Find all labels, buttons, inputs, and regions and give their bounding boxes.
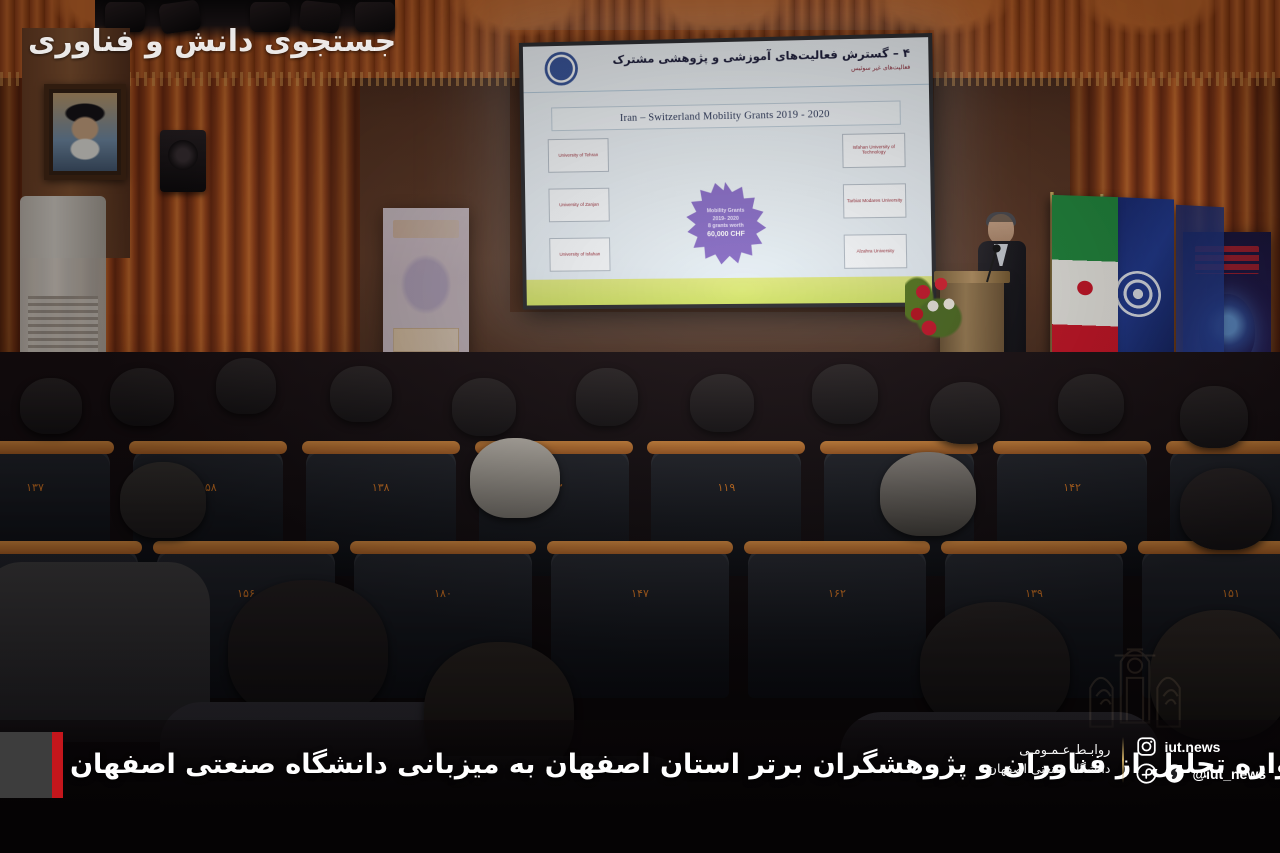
diagram-node-label: University of Isfahan xyxy=(559,252,600,257)
instagram-icon xyxy=(1136,736,1157,757)
slide-title: ۴ – گسترش فعالیت‌های آموزشی و پژوهشی مشت… xyxy=(612,46,910,67)
audience-head xyxy=(20,378,82,434)
slide-header: ۴ – گسترش فعالیت‌های آموزشی و پژوهشی مشت… xyxy=(523,37,929,93)
seat-number: ۱۴۷ xyxy=(551,587,729,600)
audience-head xyxy=(120,462,206,538)
seat-number: ۱۳۷ xyxy=(0,481,110,494)
instagram-handle: iut.news xyxy=(1164,739,1220,755)
seat-number: ۱۳۹ xyxy=(945,587,1123,600)
top-watermark: جستجوی دانش و فناوری xyxy=(28,24,396,59)
audience-head xyxy=(470,438,560,518)
university-logo-icon xyxy=(544,51,578,85)
diagram-node-label: Tarbiat Modares University xyxy=(847,198,902,204)
starburst-line-1: Mobility Grants xyxy=(707,208,745,215)
audience-head xyxy=(930,382,1000,444)
diagram-node: University of Tehran xyxy=(548,138,609,173)
pr-line-2: دانشگاه صنعتی اصفهان xyxy=(988,760,1111,778)
caption-headline: جشنواره تجلیل از فناوران و پژوهشگران برت… xyxy=(70,734,970,794)
soroush-icon xyxy=(1164,763,1185,784)
monument-watermark-icon xyxy=(1074,625,1196,735)
audience-head xyxy=(228,580,388,720)
starburst-line-3: 8 grants worth xyxy=(708,223,744,230)
pa-speaker-icon xyxy=(160,130,206,192)
caption-block xyxy=(0,732,52,798)
diagram-node: University of Isfahan xyxy=(549,237,610,271)
messenger-handle: @iut_news xyxy=(1192,766,1266,782)
credits-divider xyxy=(1122,737,1124,783)
audience-head xyxy=(110,368,174,426)
social-instagram[interactable]: iut.news xyxy=(1136,736,1266,757)
slide-banner: Iran – Switzerland Mobility Grants 2019 … xyxy=(551,100,901,131)
presentation-slide: ۴ – گسترش فعالیت‌های آموزشی و پژوهشی مشت… xyxy=(523,37,932,305)
starburst-line-2: 2019- 2020 xyxy=(713,216,739,223)
diagram-node: Tarbiat Modares University xyxy=(843,183,907,218)
audience-head xyxy=(330,366,392,422)
audience-head xyxy=(812,364,878,424)
seat-number: ۱۳۸ xyxy=(306,481,456,494)
credits-group: روابـط عـمـومـی دانشگاه صنعتی اصفهان iut… xyxy=(988,736,1266,784)
seat-number: ۱۸۰ xyxy=(354,587,532,600)
slide-subtitle: فعالیت‌های غیر سوئیس xyxy=(851,64,910,72)
slide-diagram: University of Tehran University of Zanja… xyxy=(542,131,914,276)
audience-head xyxy=(216,358,276,414)
diagram-node-label: Alzahra University xyxy=(857,249,895,254)
social-links: iut.news @iut_ne xyxy=(1136,736,1266,784)
university-emblem-icon xyxy=(1115,270,1161,318)
audience-head xyxy=(576,368,638,426)
slide-footer-band xyxy=(526,276,932,305)
seat-number: ۱۵۱ xyxy=(1142,587,1280,600)
caption-accent-bar xyxy=(52,732,63,798)
seat-number: ۱۱۹ xyxy=(651,481,801,494)
diagram-node: University of Zanjan xyxy=(548,188,609,223)
seat-number: ۱۶۲ xyxy=(748,587,926,600)
audience-head xyxy=(1180,386,1248,448)
audience-head xyxy=(1180,468,1272,550)
audience-head xyxy=(452,378,516,436)
diagram-node: Alzahra University xyxy=(844,234,908,269)
diagram-node-label: University of Tehran xyxy=(558,153,598,158)
mobility-grants-starburst: Mobility Grants 2019- 2020 8 grants wort… xyxy=(683,181,768,266)
projection-screen: ۴ – گسترش فعالیت‌های آموزشی و پژوهشی مشت… xyxy=(519,33,937,310)
diagram-node: Isfahan University of Technology xyxy=(842,133,906,168)
flower-arrangement xyxy=(905,270,975,350)
slide-banner-text: Iran – Switzerland Mobility Grants 2019 … xyxy=(620,108,830,123)
social-messengers[interactable]: @iut_news xyxy=(1136,763,1266,784)
audience-head xyxy=(880,452,976,536)
seat-number: ۱۴۲ xyxy=(997,481,1147,494)
auditorium-seat: ۱۶۲ xyxy=(748,548,926,698)
diagram-node-label: Isfahan University of Technology xyxy=(845,145,902,156)
framed-portrait xyxy=(44,84,126,180)
starburst-line-4: 60,000 CHF xyxy=(707,231,745,240)
pr-line-1: روابـط عـمـومـی xyxy=(988,742,1111,761)
audience-head xyxy=(690,374,754,432)
auditorium-seat: ۱۴۷ xyxy=(551,548,729,698)
eitaa-icon xyxy=(1136,763,1157,784)
public-relations-text: روابـط عـمـومـی دانشگاه صنعتی اصفهان xyxy=(988,742,1111,779)
diagram-node-label: University of Zanjan xyxy=(559,202,599,207)
photo-canvas: ۴ – گسترش فعالیت‌های آموزشی و پژوهشی مشت… xyxy=(0,0,1280,853)
audience-head xyxy=(1058,374,1124,434)
caption-bar: جشنواره تجلیل از فناوران و پژوهشگران برت… xyxy=(0,720,1280,853)
